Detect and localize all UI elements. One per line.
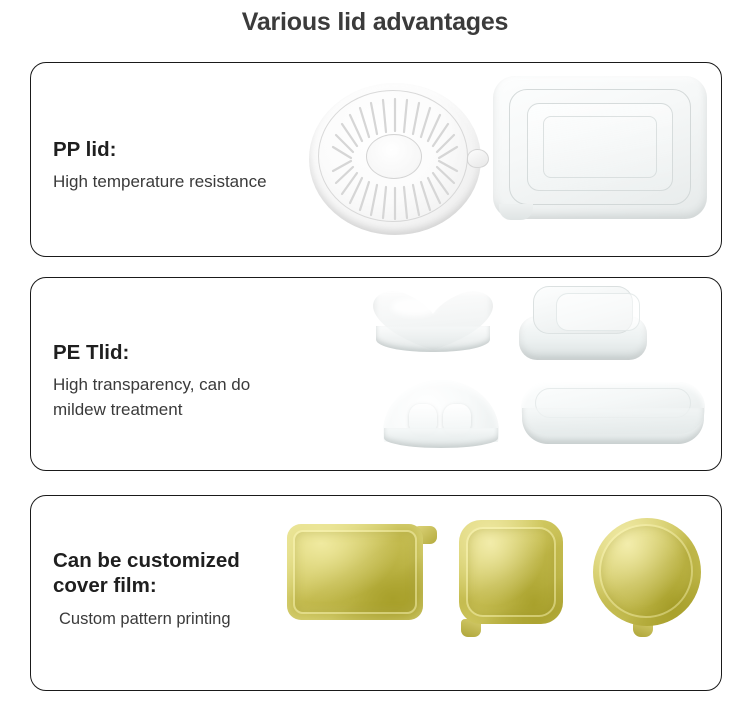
gold-square-foil-lid-ridge (466, 527, 556, 617)
pe-oval-lid-skirt (522, 408, 704, 444)
gold-round-foil-lid-body (593, 518, 701, 626)
gold-round-foil-lid-ridge (599, 524, 693, 618)
pe-square-dome-lid-top (533, 286, 633, 334)
card-cover-film-description: Custom pattern printing (53, 607, 240, 632)
card-cover-film-text: Can be customized cover film: Custom pat… (53, 548, 240, 632)
pe-square-dome-lid-image (519, 286, 649, 364)
pp-rectangular-lid-image (493, 76, 709, 221)
card-pe-lid-description: High transparency, can do mildew treatme… (53, 372, 250, 422)
pp-round-lid-tab (467, 149, 489, 168)
card-pp-lid-text: PP lid: High temperature resistance (53, 137, 267, 194)
card-pe-lid-figures (321, 278, 721, 470)
pe-round-dome-lid-image (383, 380, 501, 448)
gold-rectangular-foil-lid-body (287, 524, 423, 620)
pp-round-lid-image (309, 83, 485, 238)
card-pp-lid-description: High temperature resistance (53, 169, 267, 194)
card-cover-film-heading: Can be customized cover film: (53, 548, 240, 598)
pe-heart-lid-skirt (376, 326, 490, 352)
card-pe-lid-heading: PE Tlid: (53, 340, 250, 365)
pe-square-dome-lid-inner-panel (556, 293, 640, 331)
gold-round-foil-lid-image (593, 518, 701, 626)
card-cover-film: Can be customized cover film: Custom pat… (30, 495, 722, 691)
card-pe-lid: PE Tlid: High transparency, can do milde… (30, 277, 722, 471)
pp-rectangular-lid-notch (499, 204, 533, 220)
card-pp-lid-figures (301, 63, 721, 256)
pe-heart-lid-image (373, 290, 495, 358)
gold-square-foil-lid-body (459, 520, 563, 624)
pp-round-lid-center-hub (366, 134, 422, 179)
card-pp-lid: PP lid: High temperature resistance (30, 62, 722, 257)
card-pp-lid-heading: PP lid: (53, 137, 267, 162)
pe-round-dome-lid-base (384, 428, 498, 448)
pp-rectangular-lid-ridge-inner (543, 116, 657, 178)
pe-oval-lid-image (521, 382, 707, 448)
pe-heart-lid-highlight (391, 298, 437, 316)
gold-square-foil-lid-image (459, 520, 563, 624)
card-cover-film-figures (281, 496, 721, 690)
gold-rectangular-foil-lid-ridge (293, 530, 417, 614)
card-pe-lid-text: PE Tlid: High transparency, can do milde… (53, 340, 250, 422)
gold-rectangular-foil-lid-image (287, 524, 423, 620)
page-title: Various lid advantages (0, 8, 750, 37)
